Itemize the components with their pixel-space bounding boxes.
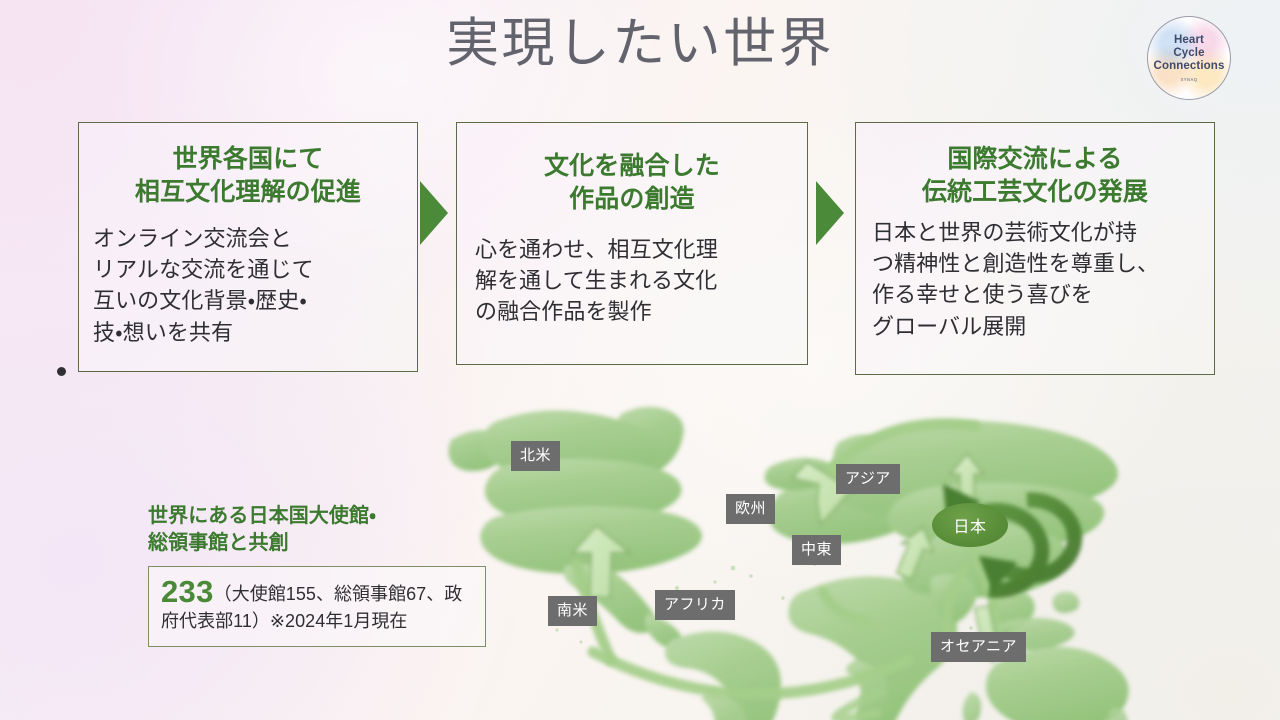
map-label-asia: アジア: [836, 464, 900, 494]
map-node-japan: 日本: [932, 503, 1008, 547]
logo-line-3: Connections: [1154, 60, 1225, 73]
logo-line-1: Heart: [1174, 34, 1204, 47]
flow-box-1: 世界各国にて 相互文化理解の促進 オンライン交流会と リアルな交流を通じて 互い…: [78, 122, 418, 372]
heart-cycle-connections-logo: Heart Cycle Connections SYNAQ: [1147, 16, 1231, 100]
flow-box-2-body: 心を通わせ、相互文化理 解を通して生まれる文化 の融合作品を製作: [475, 234, 807, 328]
stray-bullet-icon: [57, 367, 66, 376]
map-label-middle-east: 中東: [792, 535, 841, 565]
embassy-count: 233: [161, 574, 214, 609]
flow-box-3-body: 日本と世界の芸術文化が持 つ精神性と創造性を尊重し、 作る幸せと使う喜びを グロ…: [872, 217, 1214, 342]
map-label-south-america: 南米: [548, 596, 597, 626]
slide-root: 実現したい世界 Heart Cycle Connections SYNAQ 世界…: [0, 0, 1280, 720]
flow-box-2-heading: 文化を融合した 作品の創造: [457, 150, 807, 216]
map-label-africa: アフリカ: [655, 590, 735, 620]
flow-arrow-1-icon: [420, 181, 448, 245]
map-label-oceania: オセアニア: [931, 632, 1026, 662]
flow-box-2: 文化を融合した 作品の創造 心を通わせ、相互文化理 解を通して生まれる文化 の融…: [456, 122, 808, 365]
logo-subtitle: SYNAQ: [1181, 76, 1198, 83]
flow-box-3-heading: 国際交流による 伝統工芸文化の発展: [856, 143, 1214, 209]
flow-box-3: 国際交流による 伝統工芸文化の発展 日本と世界の芸術文化が持 つ精神性と創造性を…: [855, 122, 1215, 375]
page-title: 実現したい世界: [0, 14, 1280, 73]
map-label-europe: 欧州: [726, 494, 775, 524]
flow-box-1-heading: 世界各国にて 相互文化理解の促進: [79, 143, 417, 209]
flow-arrow-2-icon: [816, 181, 844, 245]
map-label-north-america: 北米: [511, 441, 560, 471]
flow-box-1-body: オンライン交流会と リアルな交流を通じて 互いの文化背景・歴史・ 技・想いを共有: [93, 223, 417, 348]
logo-line-2: Cycle: [1173, 47, 1204, 60]
